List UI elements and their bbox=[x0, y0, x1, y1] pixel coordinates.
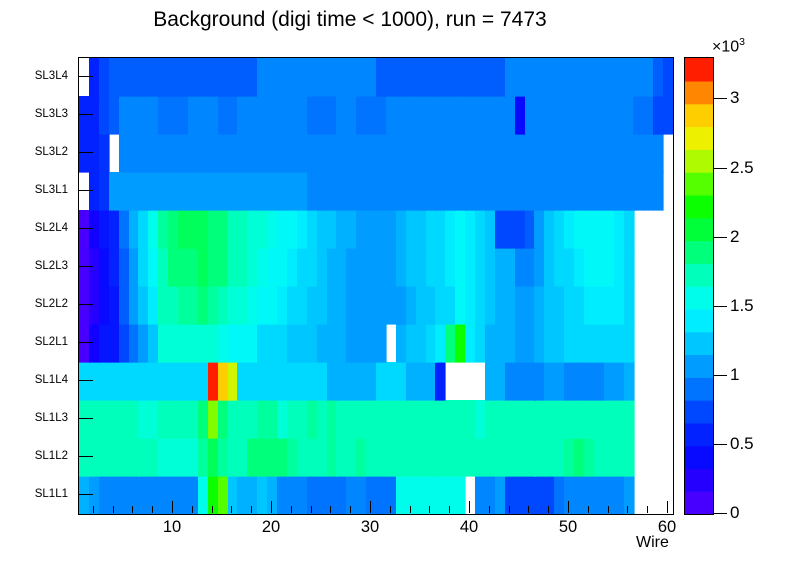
y-axis-label-sl2l2: SL2L2 bbox=[35, 298, 68, 310]
x-axis-label-40: 40 bbox=[460, 518, 478, 537]
color-scale-label-3: 3 bbox=[730, 88, 739, 108]
x-axis-minor-tick bbox=[132, 506, 133, 513]
x-axis-minor-tick bbox=[489, 506, 490, 513]
y-axis-tick bbox=[78, 190, 93, 191]
color-scale-tick bbox=[714, 168, 727, 169]
heatmap-surface[interactable] bbox=[79, 58, 673, 514]
color-scale-label-0.5: 0.5 bbox=[730, 434, 754, 454]
color-scale-bar bbox=[684, 57, 714, 515]
x-axis-minor-tick bbox=[429, 506, 430, 513]
y-axis-tick bbox=[78, 304, 93, 305]
color-scale-tick bbox=[714, 237, 727, 238]
x-axis-major-tick bbox=[271, 501, 272, 513]
y-axis-label-sl1l2: SL1L2 bbox=[35, 450, 68, 462]
y-axis-label-sl3l4: SL3L4 bbox=[35, 70, 68, 82]
x-axis-minor-tick bbox=[588, 506, 589, 513]
x-axis-minor-tick bbox=[330, 506, 331, 513]
heatmap-frame bbox=[78, 57, 674, 515]
y-axis-tick bbox=[78, 266, 93, 267]
x-axis-minor-tick bbox=[291, 506, 292, 513]
x-axis-minor-tick bbox=[192, 506, 193, 513]
y-axis-tick bbox=[78, 228, 93, 229]
y-axis-label-sl3l3: SL3L3 bbox=[35, 108, 68, 120]
x-axis-minor-tick bbox=[350, 506, 351, 513]
y-axis-label-sl1l4: SL1L4 bbox=[35, 374, 68, 386]
x-axis-major-tick bbox=[469, 501, 470, 513]
x-axis-minor-tick bbox=[608, 506, 609, 513]
x-axis-minor-tick bbox=[410, 506, 411, 513]
color-scale-tick bbox=[714, 306, 727, 307]
y-axis-tick bbox=[78, 494, 93, 495]
color-scale-exponent-power: 3 bbox=[739, 36, 745, 48]
x-axis-label-50: 50 bbox=[559, 518, 577, 537]
color-scale-label-2: 2 bbox=[730, 227, 739, 247]
x-axis-minor-tick bbox=[627, 506, 628, 513]
x-axis-minor-tick bbox=[152, 506, 153, 513]
x-axis-major-tick bbox=[667, 501, 668, 513]
x-axis-minor-tick bbox=[93, 506, 94, 513]
y-axis-tick bbox=[78, 456, 93, 457]
y-axis-tick bbox=[78, 342, 93, 343]
x-axis-minor-tick bbox=[548, 506, 549, 513]
x-axis-minor-tick bbox=[528, 506, 529, 513]
y-axis-tick bbox=[78, 418, 93, 419]
x-axis-title: Wire bbox=[636, 534, 669, 552]
x-axis-label-10: 10 bbox=[163, 518, 181, 537]
color-scale-label-1.5: 1.5 bbox=[730, 296, 754, 316]
y-axis-label-sl2l4: SL2L4 bbox=[35, 222, 68, 234]
color-scale-tick bbox=[714, 375, 727, 376]
y-axis-tick bbox=[78, 76, 93, 77]
root-canvas: Background (digi time < 1000), run = 747… bbox=[0, 0, 796, 572]
page-title: Background (digi time < 1000), run = 747… bbox=[0, 8, 700, 32]
y-axis-label-sl1l1: SL1L1 bbox=[35, 488, 68, 500]
color-scale-gradient bbox=[685, 58, 713, 514]
x-axis-minor-tick bbox=[390, 506, 391, 513]
color-scale-label-1: 1 bbox=[730, 365, 739, 385]
heatmap-cells[interactable] bbox=[79, 58, 673, 514]
y-axis-label-sl2l1: SL2L1 bbox=[35, 336, 68, 348]
color-scale-tick bbox=[714, 513, 727, 514]
x-axis-minor-tick bbox=[113, 506, 114, 513]
y-axis-tick bbox=[78, 114, 93, 115]
x-axis-major-tick bbox=[172, 501, 173, 513]
x-axis-minor-tick bbox=[311, 506, 312, 513]
x-axis-minor-tick bbox=[212, 506, 213, 513]
color-scale-tick bbox=[714, 444, 727, 445]
x-axis-major-tick bbox=[568, 501, 569, 513]
color-scale-label-0: 0 bbox=[730, 503, 739, 523]
x-axis-label-20: 20 bbox=[262, 518, 280, 537]
color-scale-label-2.5: 2.5 bbox=[730, 158, 754, 178]
y-axis-label-sl3l2: SL3L2 bbox=[35, 146, 68, 158]
color-scale-exponent: ×103 bbox=[712, 36, 745, 56]
x-axis-minor-tick bbox=[647, 506, 648, 513]
y-axis-label-sl1l3: SL1L3 bbox=[35, 412, 68, 424]
y-axis-label-sl3l1: SL3L1 bbox=[35, 184, 68, 196]
x-axis-minor-tick bbox=[449, 506, 450, 513]
y-axis-tick bbox=[78, 152, 93, 153]
x-axis-label-30: 30 bbox=[361, 518, 379, 537]
color-scale-tick bbox=[714, 98, 727, 99]
x-axis-minor-tick bbox=[251, 506, 252, 513]
x-axis-minor-tick bbox=[231, 506, 232, 513]
y-axis-label-sl2l3: SL2L3 bbox=[35, 260, 68, 272]
x-axis-major-tick bbox=[370, 501, 371, 513]
y-axis-tick bbox=[78, 380, 93, 381]
color-scale-exponent-base: ×10 bbox=[712, 38, 739, 55]
y-axis-labels: SL1L1SL1L2SL1L3SL1L4SL2L1SL2L2SL2L3SL2L4… bbox=[0, 57, 74, 513]
x-axis-minor-tick bbox=[509, 506, 510, 513]
